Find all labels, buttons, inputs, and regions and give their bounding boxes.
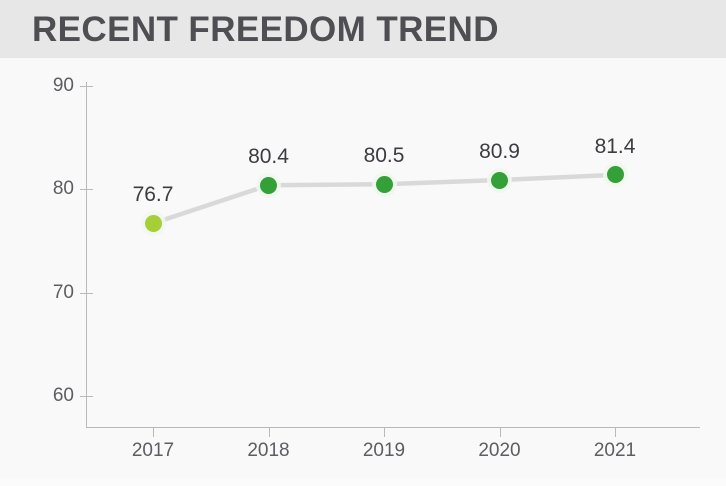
data-point-marker[interactable] — [145, 215, 162, 232]
data-point-label: 80.9 — [445, 140, 555, 164]
data-point-marker[interactable] — [376, 176, 393, 193]
data-point-label: 80.5 — [329, 144, 439, 168]
data-point-marker[interactable] — [607, 166, 624, 183]
data-point-marker[interactable] — [260, 177, 277, 194]
data-point-marker[interactable] — [491, 172, 508, 189]
series-line-layer — [0, 0, 726, 486]
data-point-label: 80.4 — [214, 145, 324, 169]
data-point-label: 76.7 — [98, 183, 208, 207]
data-point-label: 81.4 — [560, 135, 670, 159]
freedom-trend-chart: RECENT FREEDOM TREND 60708090 2017201820… — [0, 0, 726, 486]
